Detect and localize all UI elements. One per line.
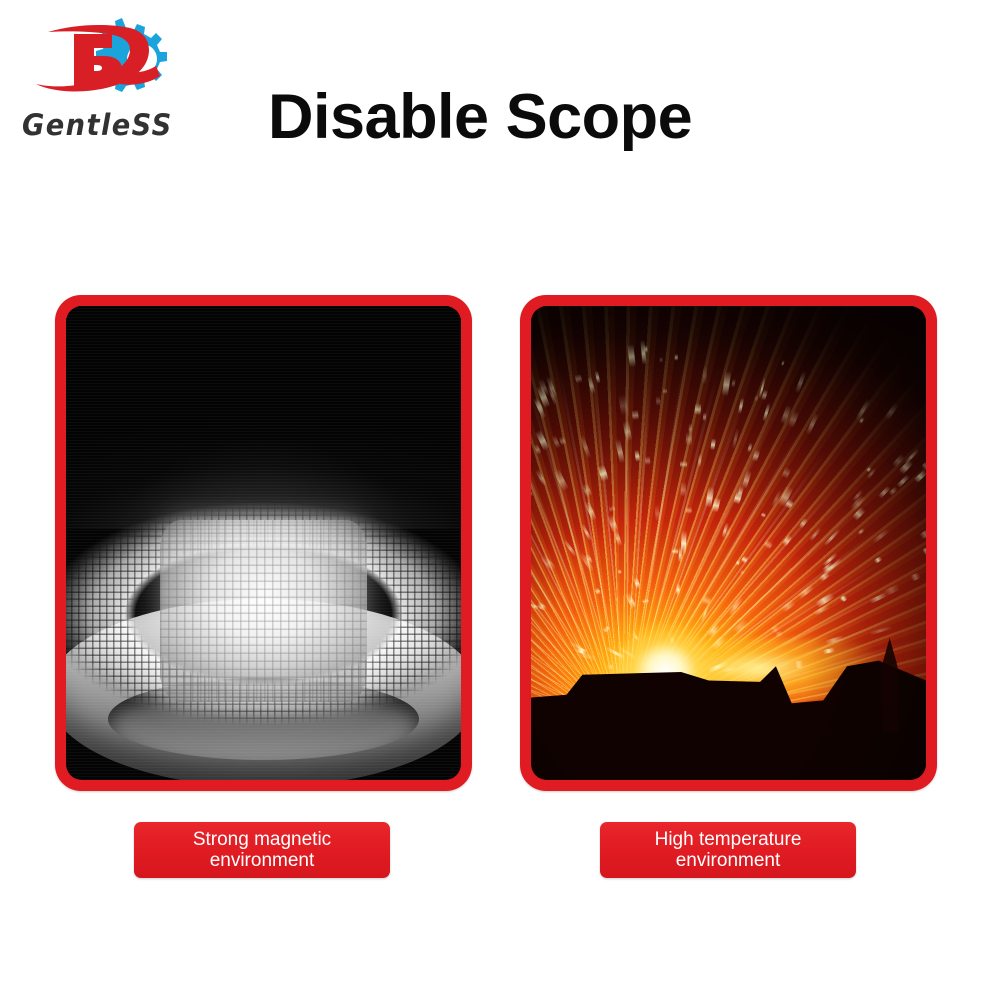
molten-sparks-photo [531,306,926,780]
panel-strong-magnetic [55,295,472,791]
central-solenoid-column [160,520,367,702]
caption-badge-strong-magnetic: Strong magnetic environment [134,822,390,878]
solenoid-mesh-grid [160,520,367,702]
magnetic-coil-photo [66,306,461,780]
page-title: Disable Scope [268,86,692,149]
caption-line-1: Strong magnetic [193,829,331,850]
panel-row [0,295,1000,795]
brand-block: GentleSS [14,14,214,154]
panel-high-temperature [520,295,937,791]
brand-wordmark: GentleSS [22,108,201,142]
caption-line-2: environment [193,850,331,871]
caption-line-2: environment [655,850,802,871]
caption-line-1: High temperature [655,829,802,850]
gentless-gear-d-logo-icon [22,14,182,104]
caption-badge-high-temperature: High temperature environment [600,822,856,878]
magnetic-coil-assembly [66,496,461,780]
